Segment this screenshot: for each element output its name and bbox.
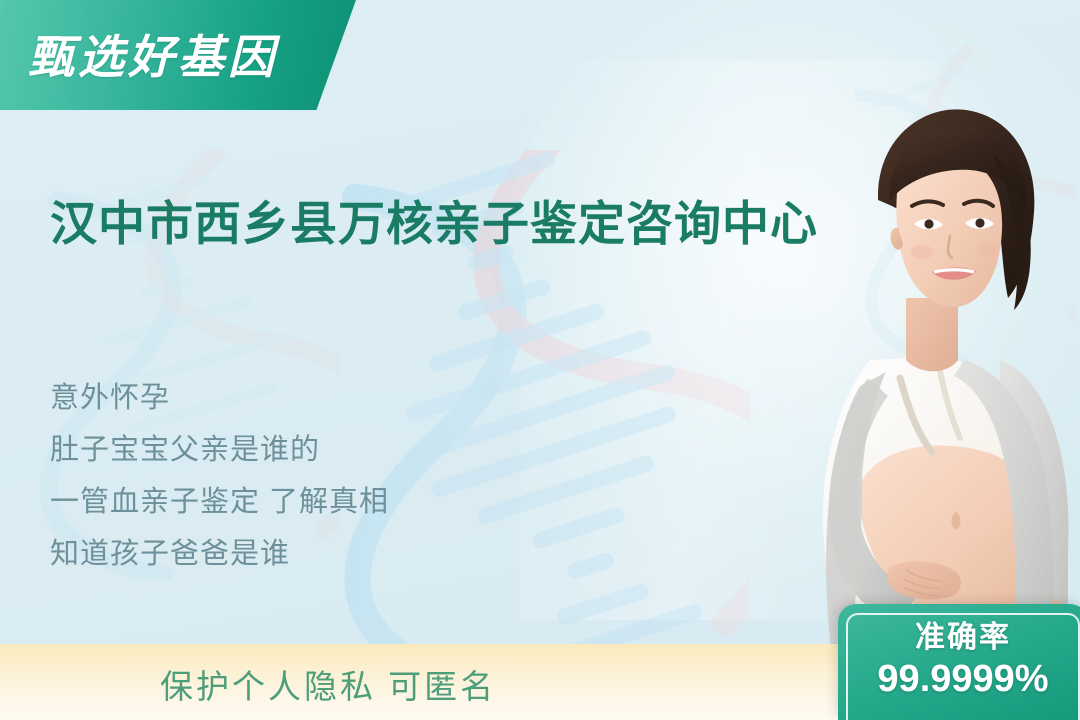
brand-logo-text: 甄选好基因 bbox=[0, 21, 278, 87]
copy-line-1: 意外怀孕 bbox=[50, 372, 610, 424]
brand-logo-banner[interactable]: 甄选好基因 bbox=[0, 0, 356, 110]
copy-line-2: 肚子宝宝父亲是谁的 bbox=[50, 424, 610, 476]
copy-line-3: 一管血亲子鉴定 了解真相 bbox=[50, 476, 610, 528]
accuracy-badge-frame: 准确率 99.9999% bbox=[846, 613, 1080, 720]
marketing-copy: 意外怀孕 肚子宝宝父亲是谁的 一管血亲子鉴定 了解真相 知道孩子爸爸是谁 bbox=[50, 372, 610, 580]
accuracy-badge-label: 准确率 bbox=[848, 619, 1078, 657]
promo-poster: 甄选好基因 汉中市西乡县万核亲子鉴定咨询中心 意外怀孕 肚子宝宝父亲是谁的 一管… bbox=[0, 0, 1080, 720]
page-title: 汉中市西乡县万核亲子鉴定咨询中心 bbox=[50, 189, 860, 258]
accuracy-badge-value: 99.9999% bbox=[848, 657, 1078, 701]
accuracy-badge: 准确率 99.9999% bbox=[838, 604, 1080, 720]
copy-line-4: 知道孩子爸爸是谁 bbox=[50, 528, 610, 580]
privacy-banner-text: 保护个人隐私 可匿名 bbox=[0, 660, 496, 708]
